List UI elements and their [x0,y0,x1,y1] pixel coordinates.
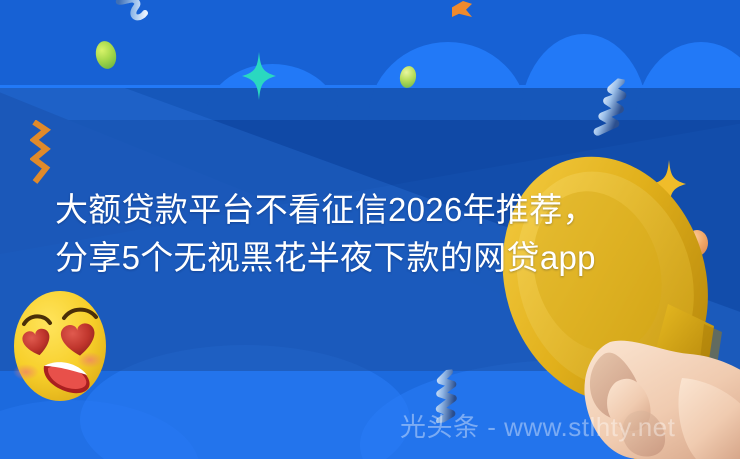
confetti-zigzag-orange [30,120,52,186]
watermark: 光头条 - www.stlhty.net [400,412,675,442]
page-title: 大额贷款平台不看征信2026年推荐， 分享5个无视黑花半夜下款的网贷app [55,186,715,282]
smiling-face-with-hearts-emoji [8,288,112,404]
megaphone-illustration [500,128,740,459]
sparkle-teal [242,52,276,100]
promo-banner: 大额贷款平台不看征信2026年推荐， 分享5个无视黑花半夜下款的网贷app 光头… [0,0,740,459]
